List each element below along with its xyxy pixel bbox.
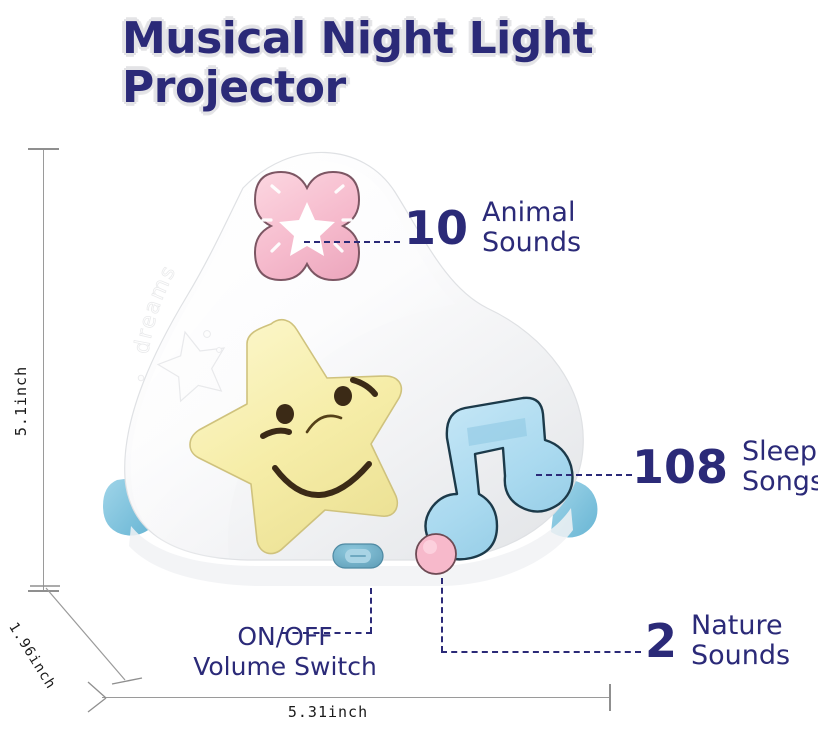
leader-line-nature-vertical: [441, 578, 443, 652]
dimension-line-height: [43, 148, 44, 592]
dimension-line-width: [102, 697, 610, 698]
volume-switch: [333, 544, 383, 568]
dimension-label-width: 5.31inch: [258, 703, 398, 721]
animal-sounds-button: [255, 172, 359, 280]
dimension-tick-height-top: [28, 148, 59, 150]
callout-nature-number: 2: [645, 618, 677, 664]
leader-line-sleep: [536, 474, 632, 476]
nature-sounds-button: [416, 534, 456, 574]
infographic-canvas: Musical Night Light Projector 5.1inch 1.…: [0, 0, 818, 733]
callout-volume-switch: ON/OFF Volume Switch: [160, 622, 410, 682]
callout-sleep-songs: 108 Sleep Songs: [632, 437, 818, 497]
callout-animal-label: Animal Sounds: [482, 198, 581, 258]
callout-sleep-number: 108: [632, 444, 728, 490]
callout-nature-label: Nature Sounds: [691, 611, 790, 671]
dimension-tick-width-right: [609, 684, 611, 711]
callout-sleep-label: Sleep Songs: [742, 437, 818, 497]
dimension-label-height: 5.1inch: [12, 356, 30, 446]
page-title: Musical Night Light Projector: [122, 14, 722, 113]
leader-line-nature-horizontal: [441, 651, 641, 653]
callout-nature-sounds: 2 Nature Sounds: [645, 611, 790, 671]
leader-line-animal: [304, 241, 400, 243]
callout-animal-sounds: 10 Animal Sounds: [404, 198, 581, 258]
callout-animal-number: 10: [404, 205, 468, 251]
dimension-tick-width-left: [86, 680, 116, 716]
